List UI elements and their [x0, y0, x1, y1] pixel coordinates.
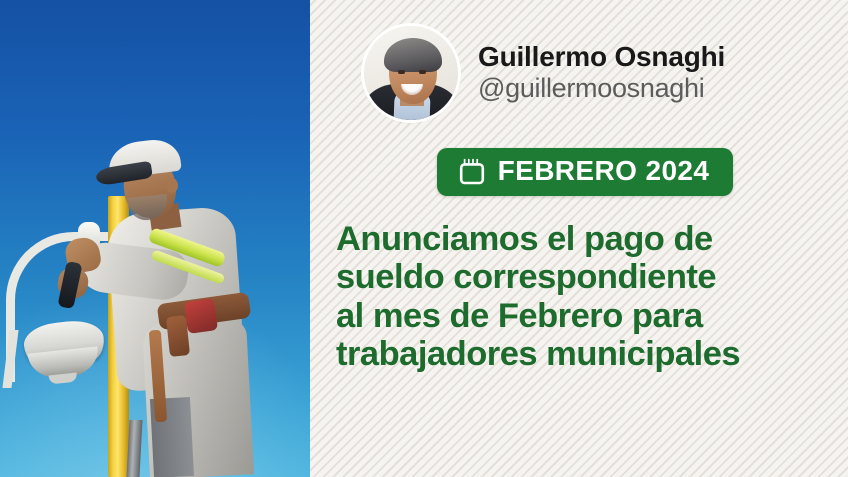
calendar-icon: [459, 158, 485, 185]
badge-label: FEBRERO 2024: [498, 157, 710, 185]
month-badge: FEBRERO 2024: [437, 148, 734, 196]
headline: Anunciamos el pago de sueldo correspondi…: [336, 220, 834, 374]
announcement-card: Guillermo Osnaghi @guillermoosnaghi FEBR…: [0, 0, 848, 477]
badge-row: FEBRERO 2024: [336, 148, 834, 196]
headline-line-2: sueldo correspondiente: [336, 258, 830, 296]
headline-line-4: trabajadores municipales: [336, 335, 830, 373]
content-panel: Guillermo Osnaghi @guillermoosnaghi FEBR…: [310, 0, 848, 477]
avatar: [364, 26, 458, 120]
avatar-eye-right: [419, 70, 426, 74]
avatar-eye-left: [398, 70, 405, 74]
worker-ear: [166, 178, 178, 193]
worker-belt-pouch: [184, 298, 218, 334]
worker-belt-pouch-second: [166, 315, 190, 357]
profile-names: Guillermo Osnaghi @guillermoosnaghi: [478, 41, 725, 105]
headline-line-1: Anunciamos el pago de: [336, 220, 830, 258]
profile-name: Guillermo Osnaghi: [478, 41, 725, 72]
profile-row: Guillermo Osnaghi @guillermoosnaghi: [336, 26, 834, 120]
headline-line-3: al mes de Febrero para: [336, 297, 830, 335]
worker-photo: [0, 0, 310, 477]
profile-handle: @guillermoosnaghi: [478, 73, 725, 105]
